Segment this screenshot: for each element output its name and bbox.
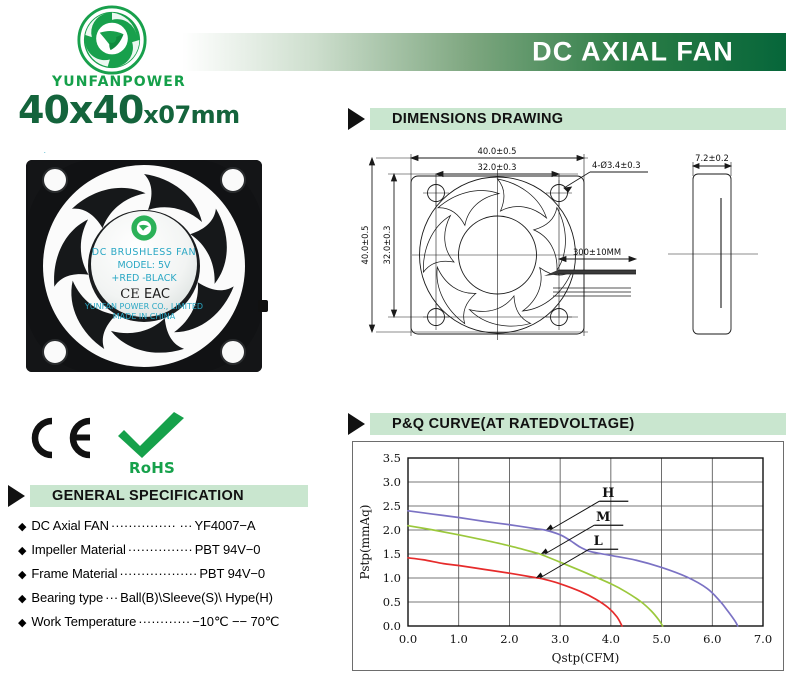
spec-dots: ············ (138, 614, 190, 629)
brand-logo: YUNFANPOWER (52, 4, 172, 90)
spec-name: DC Axial FAN (31, 518, 109, 533)
spec-row-2: ◆ Frame Material ·················· PBT … (18, 566, 328, 581)
model-size-secondary: x07mm (143, 101, 239, 129)
spec-dots: ··············· (128, 542, 193, 557)
spec-dots: ·················· (119, 566, 197, 581)
annotation-label-M: M (596, 510, 610, 525)
hub-line-1: MODEL: 5V (117, 260, 171, 271)
annotation-leader-L (540, 549, 589, 578)
y-tick-label: 2.5 (383, 499, 401, 513)
spec-value: −10℃ −− 70℃ (192, 614, 279, 630)
x-tick-label: 5.0 (652, 632, 670, 646)
dimensions-drawing: 40.0±0.5 32.0±0.3 40.0±0.5 32.0±0.3 (348, 136, 786, 404)
spec-value: PBT 94V−0 (195, 542, 261, 557)
x-tick-label: 4.0 (602, 632, 620, 646)
y-tick-label: 1.0 (383, 571, 401, 585)
spec-row-3: ◆ Bearing type ··· Ball(B)\Sleeve(S)\ Hy… (18, 590, 328, 605)
ce-mark-hub: CE (120, 287, 139, 302)
y-tick-label: 0.5 (383, 595, 401, 609)
header-banner: DC AXIAL FAN (182, 33, 786, 71)
x-tick-label: 3.0 (551, 632, 569, 646)
page-title: DC AXIAL FAN (532, 37, 734, 68)
x-axis-title: Qstp(CFM) (552, 651, 620, 665)
spec-value: Ball(B)\Sleeve(S)\ Hype(H) (120, 590, 273, 605)
spec-bullet-icon: ◆ (18, 520, 26, 533)
spec-bullet-icon: ◆ (18, 592, 26, 605)
triangle-bullet-icon (8, 485, 25, 507)
section-band: GENERAL SPECIFICATION (30, 485, 308, 507)
spec-name: Frame Material (31, 566, 117, 581)
y-axis-title: Pstp(mmAq) (358, 505, 372, 580)
x-tick-label: 2.0 (500, 632, 518, 646)
annotation-leader-H (550, 501, 599, 530)
hub-company: YUNFAN POWER CO., LIMITED (84, 302, 203, 311)
triangle-bullet-icon (348, 413, 365, 435)
spec-row-4: ◆ Work Temperature ············ −10℃ −− … (18, 614, 328, 630)
x-tick-label: 0.0 (399, 632, 417, 646)
section-title-dimensions: DIMENSIONS DRAWING (370, 111, 563, 127)
spec-value: YF4007−A (194, 518, 255, 533)
section-header-general-specification: GENERAL SPECIFICATION (8, 485, 308, 507)
y-tick-label: 3.5 (383, 451, 401, 465)
dim-width-inner: 32.0±0.3 (478, 162, 517, 172)
dim-thickness: 7.2±0.2 (695, 153, 729, 163)
y-tick-label: 0.0 (383, 619, 401, 633)
annotation-label-H: H (602, 486, 614, 501)
spec-name: Impeller Material (31, 542, 125, 557)
x-tick-label: 7.0 (754, 632, 772, 646)
hub-line-2: +RED -BLACK (111, 273, 177, 284)
x-tick-label: 1.0 (450, 632, 468, 646)
section-band: DIMENSIONS DRAWING (370, 108, 786, 130)
fan-product-photo: DC BRUSHLESS FAN MODEL: 5V +RED -BLACK C… (22, 152, 270, 380)
spec-bullet-icon: ◆ (18, 616, 26, 629)
ce-icon (22, 416, 100, 460)
hub-marks: CE EAC (120, 287, 170, 302)
dim-lead-length: 300±10MM (573, 247, 621, 257)
hub-logo-icon (131, 215, 156, 240)
hub-line-0: DC BRUSHLESS FAN (92, 247, 196, 258)
fan-swirl-logo-icon (76, 4, 148, 76)
section-title-general: GENERAL SPECIFICATION (30, 488, 244, 504)
spec-dots: ··· (105, 590, 118, 605)
y-tick-label: 1.5 (383, 547, 401, 561)
y-tick-label: 3.0 (383, 475, 401, 489)
model-size-title: 40x40x07mm (18, 88, 240, 132)
eac-mark-hub: EAC (144, 287, 170, 302)
specification-list: ◆ DC Axial FAN ··············· ··· YF400… (18, 518, 328, 639)
y-tick-label: 2.0 (383, 523, 401, 537)
certification-marks: RoHS (22, 410, 202, 480)
dim-height-inner: 32.0±0.3 (382, 226, 392, 265)
spec-name: Work Temperature (31, 614, 136, 629)
rohs-check-icon (110, 410, 194, 462)
spec-bullet-icon: ◆ (18, 568, 26, 581)
model-size-primary: 40x40 (18, 88, 143, 132)
spec-row-0: ◆ DC Axial FAN ··············· ··· YF400… (18, 518, 328, 533)
section-header-pq-curve: P&Q CURVE(AT RATEDVOLTAGE) (348, 413, 786, 435)
dim-mounting-holes: 4-Ø3.4±0.3 (592, 160, 641, 170)
dim-width-outer: 40.0±0.5 (478, 146, 517, 156)
hub-origin: MADE IN CHINA (113, 312, 176, 321)
plot-frame (408, 458, 763, 626)
x-tick-label: 6.0 (703, 632, 721, 646)
hub-line-3: YUNFAN POWER CO., LIMITED (22, 152, 81, 154)
curve-L (408, 558, 622, 626)
curve-M (408, 526, 663, 626)
rohs-icon: RoHS (110, 410, 194, 477)
spec-name: Bearing type (31, 590, 103, 605)
spec-bullet-icon: ◆ (18, 544, 26, 557)
section-header-dimensions-drawing: DIMENSIONS DRAWING (348, 108, 786, 130)
curve-H (408, 511, 738, 626)
spec-row-1: ◆ Impeller Material ··············· PBT … (18, 542, 328, 557)
section-band: P&Q CURVE(AT RATEDVOLTAGE) (370, 413, 786, 435)
annotation-label-L: L (594, 534, 603, 549)
spec-dots: ··············· ··· (111, 518, 193, 533)
pq-chart: 0.01.02.03.04.05.06.07.00.00.51.01.52.02… (353, 442, 781, 668)
section-title-pq: P&Q CURVE(AT RATEDVOLTAGE) (370, 416, 634, 432)
pq-chart-container: 0.01.02.03.04.05.06.07.00.00.51.01.52.02… (352, 441, 784, 671)
spec-value: PBT 94V−0 (199, 566, 265, 581)
dim-height-outer: 40.0±0.5 (360, 226, 370, 265)
triangle-bullet-icon (348, 108, 365, 130)
